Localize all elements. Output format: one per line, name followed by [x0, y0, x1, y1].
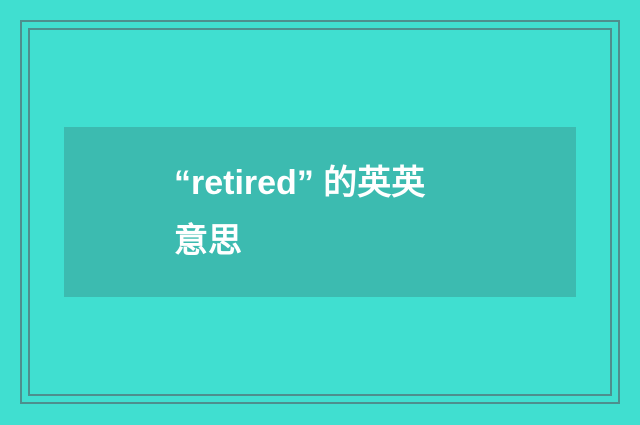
page-title: “retired” 的英英意思 [174, 154, 454, 270]
title-panel: “retired” 的英英意思 [64, 127, 576, 297]
banner-canvas: “retired” 的英英意思 [0, 0, 640, 425]
